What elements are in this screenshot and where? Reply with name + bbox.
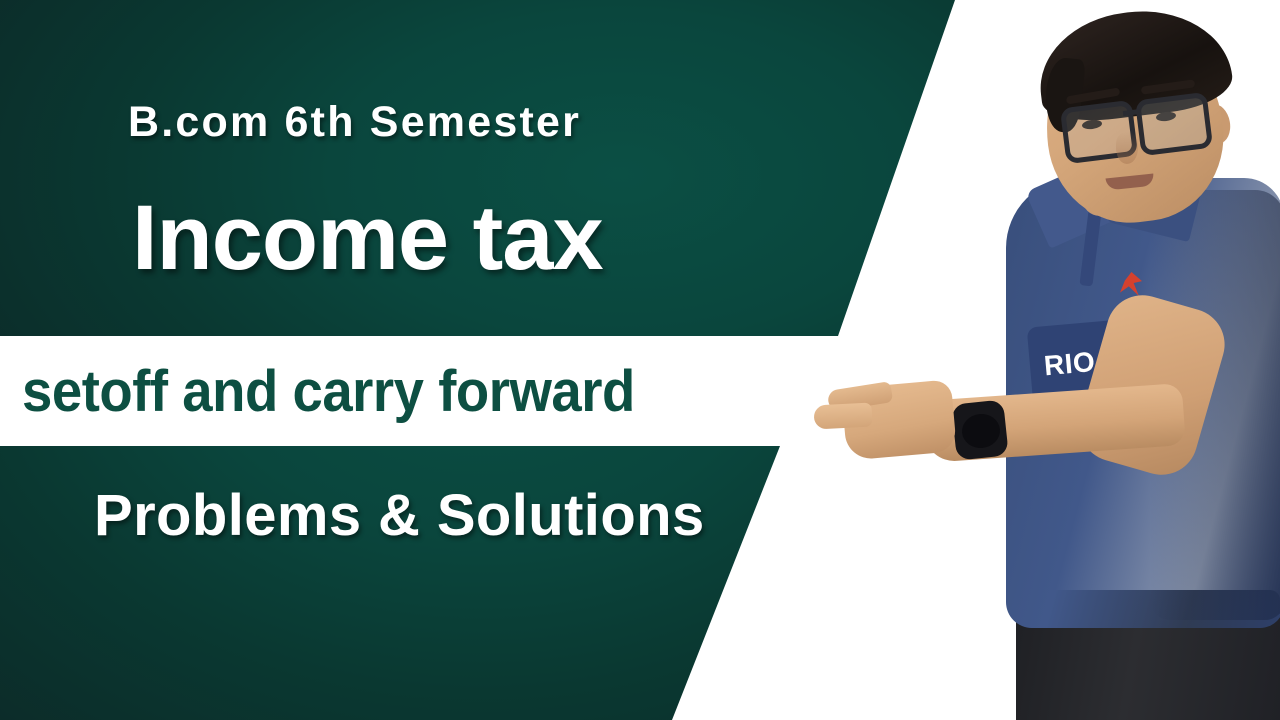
course-semester-label: B.com 6th Semester <box>128 98 581 147</box>
video-thumbnail: B.com 6th Semester Income tax setoff and… <box>0 0 1280 720</box>
presenter-photo: RIO adem <box>820 0 1280 720</box>
topic-subtitle: setoff and carry forward <box>22 358 635 425</box>
eyeglasses-lens-right <box>1135 92 1213 156</box>
shirt-text-line-1: RIO <box>1043 346 1097 382</box>
highlight-band: setoff and carry forward <box>0 336 830 446</box>
content-type-label: Problems & Solutions <box>94 482 705 549</box>
presenter-finger-index <box>813 402 872 429</box>
page-title: Income tax <box>132 186 603 291</box>
presenter-nose <box>1116 132 1138 164</box>
